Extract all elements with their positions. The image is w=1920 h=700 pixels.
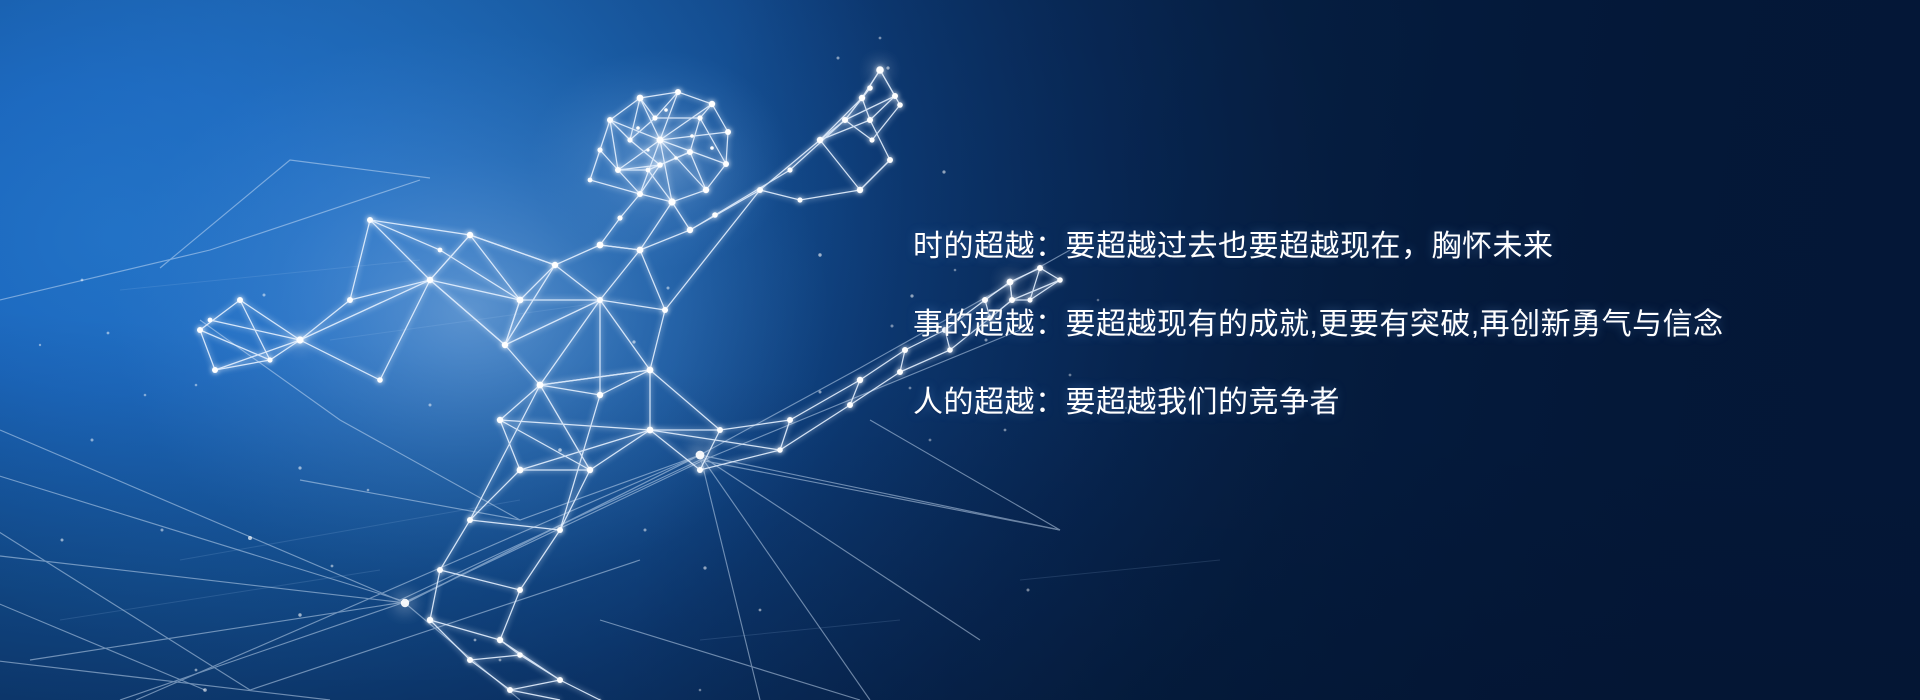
slogan-text-block: 时的超越：要超越过去也要超越现在，胸怀未来 事的超越：要超越现有的成就,更要有突…: [913, 232, 1813, 418]
hero-banner: 时的超越：要超越过去也要超越现在，胸怀未来 事的超越：要超越现有的成就,更要有突…: [0, 0, 1920, 700]
slogan-line-people: 人的超越：要超越我们的竞争者: [913, 388, 1813, 418]
slogan-line-time: 时的超越：要超越过去也要超越现在，胸怀未来: [913, 232, 1813, 262]
slogan-line-matter: 事的超越：要超越现有的成就,更要有突破,再创新勇气与信念: [913, 310, 1813, 340]
